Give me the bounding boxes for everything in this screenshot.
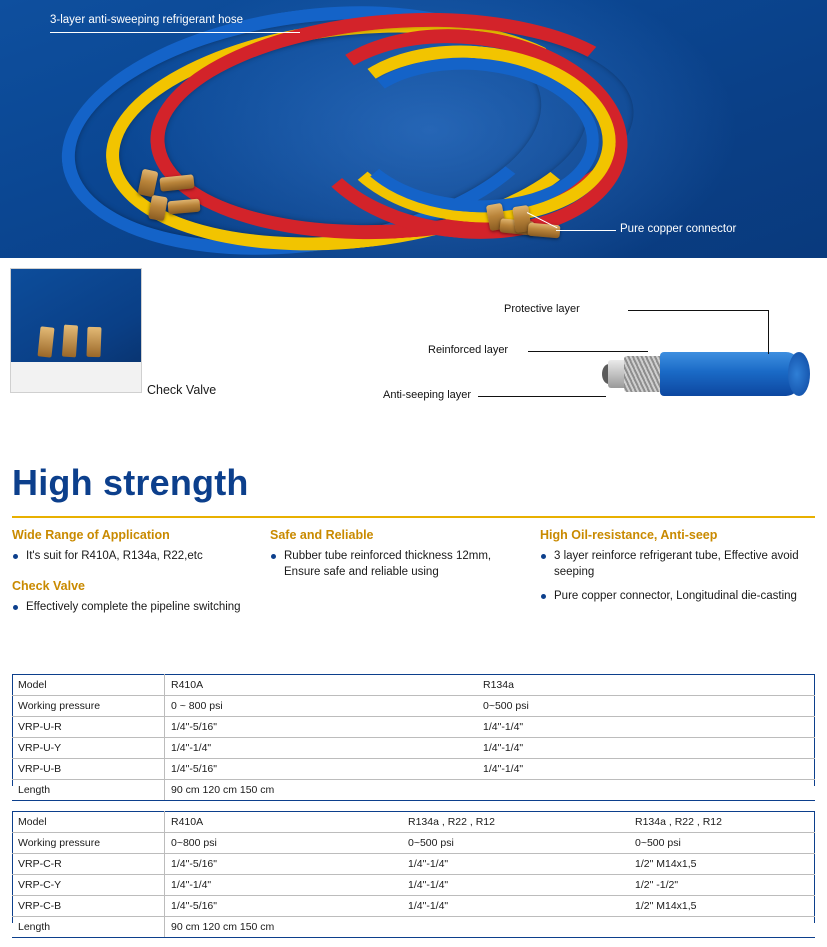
table2-r0-c1: R410A xyxy=(165,812,403,833)
table2-r2-c1: 1/4"-5/16" xyxy=(165,854,403,875)
table2-r0-c0: Model xyxy=(12,812,165,833)
table-row: Length 90 cm 120 cm 150 cm xyxy=(12,917,815,938)
table1-r2-c0: VRP-U-R xyxy=(12,717,165,738)
table1-r3-c2: 1/4"-1/4" xyxy=(477,738,815,759)
feature-heading-application: Wide Range of Application xyxy=(12,528,242,542)
table-row: VRP-U-Y 1/4"-1/4" 1/4"-1/4" xyxy=(12,738,815,759)
layer-end-cap xyxy=(788,352,810,396)
table2-r4-c2: 1/4"-1/4" xyxy=(402,896,629,917)
table1-r1-c2: 0~500 psi xyxy=(477,696,815,717)
hero-callout-right-leader xyxy=(556,230,616,231)
feature-bullet-oil-1: 3 layer reinforce refrigerant tube, Effe… xyxy=(540,549,815,580)
table1-r4-c2: 1/4"-1/4" xyxy=(477,759,815,780)
table-row: Working pressure 0~800 psi 0~500 psi 0~5… xyxy=(12,833,815,854)
feature-heading-safe: Safe and Reliable xyxy=(270,528,520,542)
feature-heading-oil-resistance: High Oil-resistance, Anti-seep xyxy=(540,528,815,542)
feature-bullet-check-valve-1: Effectively complete the pipeline switch… xyxy=(12,600,242,616)
table1-r5-c1: 90 cm 120 cm 150 cm xyxy=(165,780,816,801)
table1-r1-c0: Working pressure xyxy=(12,696,165,717)
table2-r0-c2: R134a , R22 , R12 xyxy=(402,812,629,833)
table2-r0-c3: R134a , R22 , R12 xyxy=(629,812,815,833)
layer-antiseeping-label: Anti-seeping layer xyxy=(383,389,471,401)
layer-protective-leader-v xyxy=(768,310,769,354)
hero-product-photo: 3-layer anti-sweeping refrigerant hose P… xyxy=(0,0,827,258)
table-row: Working pressure 0 ~ 800 psi 0~500 psi xyxy=(12,696,815,717)
table2-r4-c3: 1/2" M14x1,5 xyxy=(629,896,815,917)
table2-r1-c3: 0~500 psi xyxy=(629,833,815,854)
hero-callout-top-label: 3-layer anti-sweeping refrigerant hose xyxy=(50,14,243,26)
table2-r2-c0: VRP-C-R xyxy=(12,854,165,875)
cv-brass-1 xyxy=(37,326,54,357)
cv-brass-3 xyxy=(86,327,101,357)
layer-antiseeping-leader xyxy=(478,396,606,397)
feature-bullet-safe-1: Rubber tube reinforced thickness 12mm, E… xyxy=(270,549,520,580)
table-row: VRP-C-R 1/4"-5/16" 1/4"-1/4" 1/2" M14x1,… xyxy=(12,854,815,875)
check-valve-caption: Check Valve xyxy=(147,383,216,397)
table-row: VRP-C-B 1/4"-5/16" 1/4"-1/4" 1/2" M14x1,… xyxy=(12,896,815,917)
mid-section: Check Valve Reinforced layer Anti-seepin… xyxy=(0,258,827,448)
hero-callout-top-leader xyxy=(50,32,300,33)
table1-r3-c0: VRP-U-Y xyxy=(12,738,165,759)
feature-column-1: Wide Range of Application It's suit for … xyxy=(12,528,242,629)
cv-brass-2 xyxy=(62,325,78,358)
table2-r1-c0: Working pressure xyxy=(12,833,165,854)
layer-reinforced-label: Reinforced layer xyxy=(428,344,508,356)
table1-r4-c0: VRP-U-B xyxy=(12,759,165,780)
table2-r4-c0: VRP-C-B xyxy=(12,896,165,917)
cv-photo-base xyxy=(11,362,141,392)
layer-diagram: Reinforced layer Anti-seeping layer Prot… xyxy=(520,308,820,428)
table-row: VRP-C-Y 1/4"-1/4" 1/4"-1/4" 1/2" -1/2" xyxy=(12,875,815,896)
table1-r3-c1: 1/4"-1/4" xyxy=(165,738,478,759)
table-row: VRP-U-R 1/4"-5/16" 1/4"-1/4" xyxy=(12,717,815,738)
title-divider xyxy=(12,516,815,518)
check-valve-photo xyxy=(10,268,142,393)
hero-callout-right-label: Pure copper connector xyxy=(620,223,736,235)
table2-r1-c1: 0~800 psi xyxy=(165,833,403,854)
feature-bullet-application-1: It's suit for R410A, R134a, R22,etc xyxy=(12,549,242,565)
table2-r4-c1: 1/4"-5/16" xyxy=(165,896,403,917)
table2-r3-c2: 1/4"-1/4" xyxy=(402,875,629,896)
spec-table-2: Model R410A R134a , R22 , R12 R134a , R2… xyxy=(12,811,815,938)
layer-protective-leader xyxy=(628,310,768,311)
table1-r0-c1: R410A xyxy=(165,675,478,696)
layer-reinforced-leader xyxy=(528,351,648,352)
table1-r0-c2: R134a xyxy=(477,675,815,696)
table1-r5-c0: Length xyxy=(12,780,165,801)
table1-r4-c1: 1/4"-5/16" xyxy=(165,759,478,780)
feature-column-2: Safe and Reliable Rubber tube reinforced… xyxy=(270,528,520,589)
table1-r1-c1: 0 ~ 800 psi xyxy=(165,696,478,717)
table-row: Model R410A R134a xyxy=(12,675,815,696)
table2-r3-c1: 1/4"-1/4" xyxy=(165,875,403,896)
spec-table-1: Model R410A R134a Working pressure 0 ~ 8… xyxy=(12,674,815,801)
feature-heading-check-valve: Check Valve xyxy=(12,579,242,593)
brass-connector-4 xyxy=(167,199,200,215)
layer-outer-jacket xyxy=(660,352,800,396)
feature-column-3: High Oil-resistance, Anti-seep 3 layer r… xyxy=(540,528,815,614)
table-row: Length 90 cm 120 cm 150 cm xyxy=(12,780,815,801)
table2-r3-c3: 1/2" -1/2" xyxy=(629,875,815,896)
table2-r2-c2: 1/4"-1/4" xyxy=(402,854,629,875)
feature-block-check-valve: Check Valve Effectively complete the pip… xyxy=(12,579,242,616)
table1-r2-c1: 1/4"-5/16" xyxy=(165,717,478,738)
table1-r2-c2: 1/4"-1/4" xyxy=(477,717,815,738)
table-row: VRP-U-B 1/4"-5/16" 1/4"-1/4" xyxy=(12,759,815,780)
table2-r2-c3: 1/2" M14x1,5 xyxy=(629,854,815,875)
table2-r5-c1: 90 cm 120 cm 150 cm xyxy=(165,917,816,938)
page-title: High strength xyxy=(12,462,249,504)
table2-r1-c2: 0~500 psi xyxy=(402,833,629,854)
feature-bullet-oil-2: Pure copper connector, Longitudinal die-… xyxy=(540,589,815,605)
feature-block-application: Wide Range of Application It's suit for … xyxy=(12,528,242,565)
table2-r5-c0: Length xyxy=(12,917,165,938)
table2-r3-c0: VRP-C-Y xyxy=(12,875,165,896)
table-row: Model R410A R134a , R22 , R12 R134a , R2… xyxy=(12,812,815,833)
layer-protective-label: Protective layer xyxy=(504,303,580,315)
table1-r0-c0: Model xyxy=(12,675,165,696)
